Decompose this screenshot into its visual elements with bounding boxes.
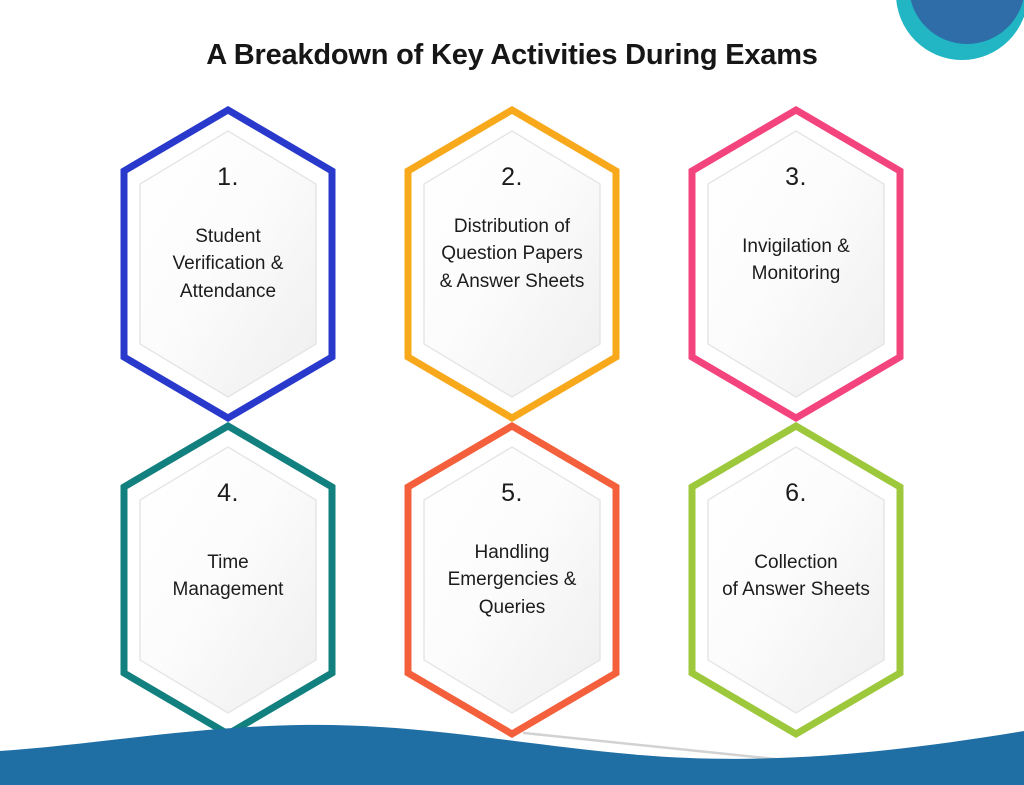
hexagon-label: Distribution of Question Papers & Answer…	[378, 213, 646, 295]
hexagon-item-4[interactable]: 4. Time Management	[94, 421, 362, 739]
hexagon-item-5[interactable]: 5. Handling Emergencies & Queries	[378, 421, 646, 739]
hexagon-number: 1.	[94, 163, 362, 192]
infographic-canvas: A Breakdown of Key Activities During Exa…	[0, 0, 1024, 785]
hexagon-number: 3.	[662, 163, 930, 192]
hexagon-label: Student Verification & Attendance	[94, 223, 362, 305]
hexagon-number: 6.	[662, 479, 930, 508]
hexagon-item-3[interactable]: 3. Invigilation & Monitoring	[662, 105, 930, 423]
hexagon-label: Handling Emergencies & Queries	[378, 539, 646, 621]
hexagon-number: 2.	[378, 163, 646, 192]
hexagon-label: Time Management	[94, 549, 362, 604]
hexagon-item-2[interactable]: 2. Distribution of Question Papers & Ans…	[378, 105, 646, 423]
hexagon-grid: 1. Student Verification & Attendance 2. …	[0, 0, 1024, 785]
hexagon-label: Collection of Answer Sheets	[662, 549, 930, 604]
hexagon-number: 5.	[378, 479, 646, 508]
hexagon-item-6[interactable]: 6. Collection of Answer Sheets	[662, 421, 930, 739]
hexagon-label: Invigilation & Monitoring	[662, 233, 930, 288]
hexagon-number: 4.	[94, 479, 362, 508]
hexagon-item-1[interactable]: 1. Student Verification & Attendance	[94, 105, 362, 423]
